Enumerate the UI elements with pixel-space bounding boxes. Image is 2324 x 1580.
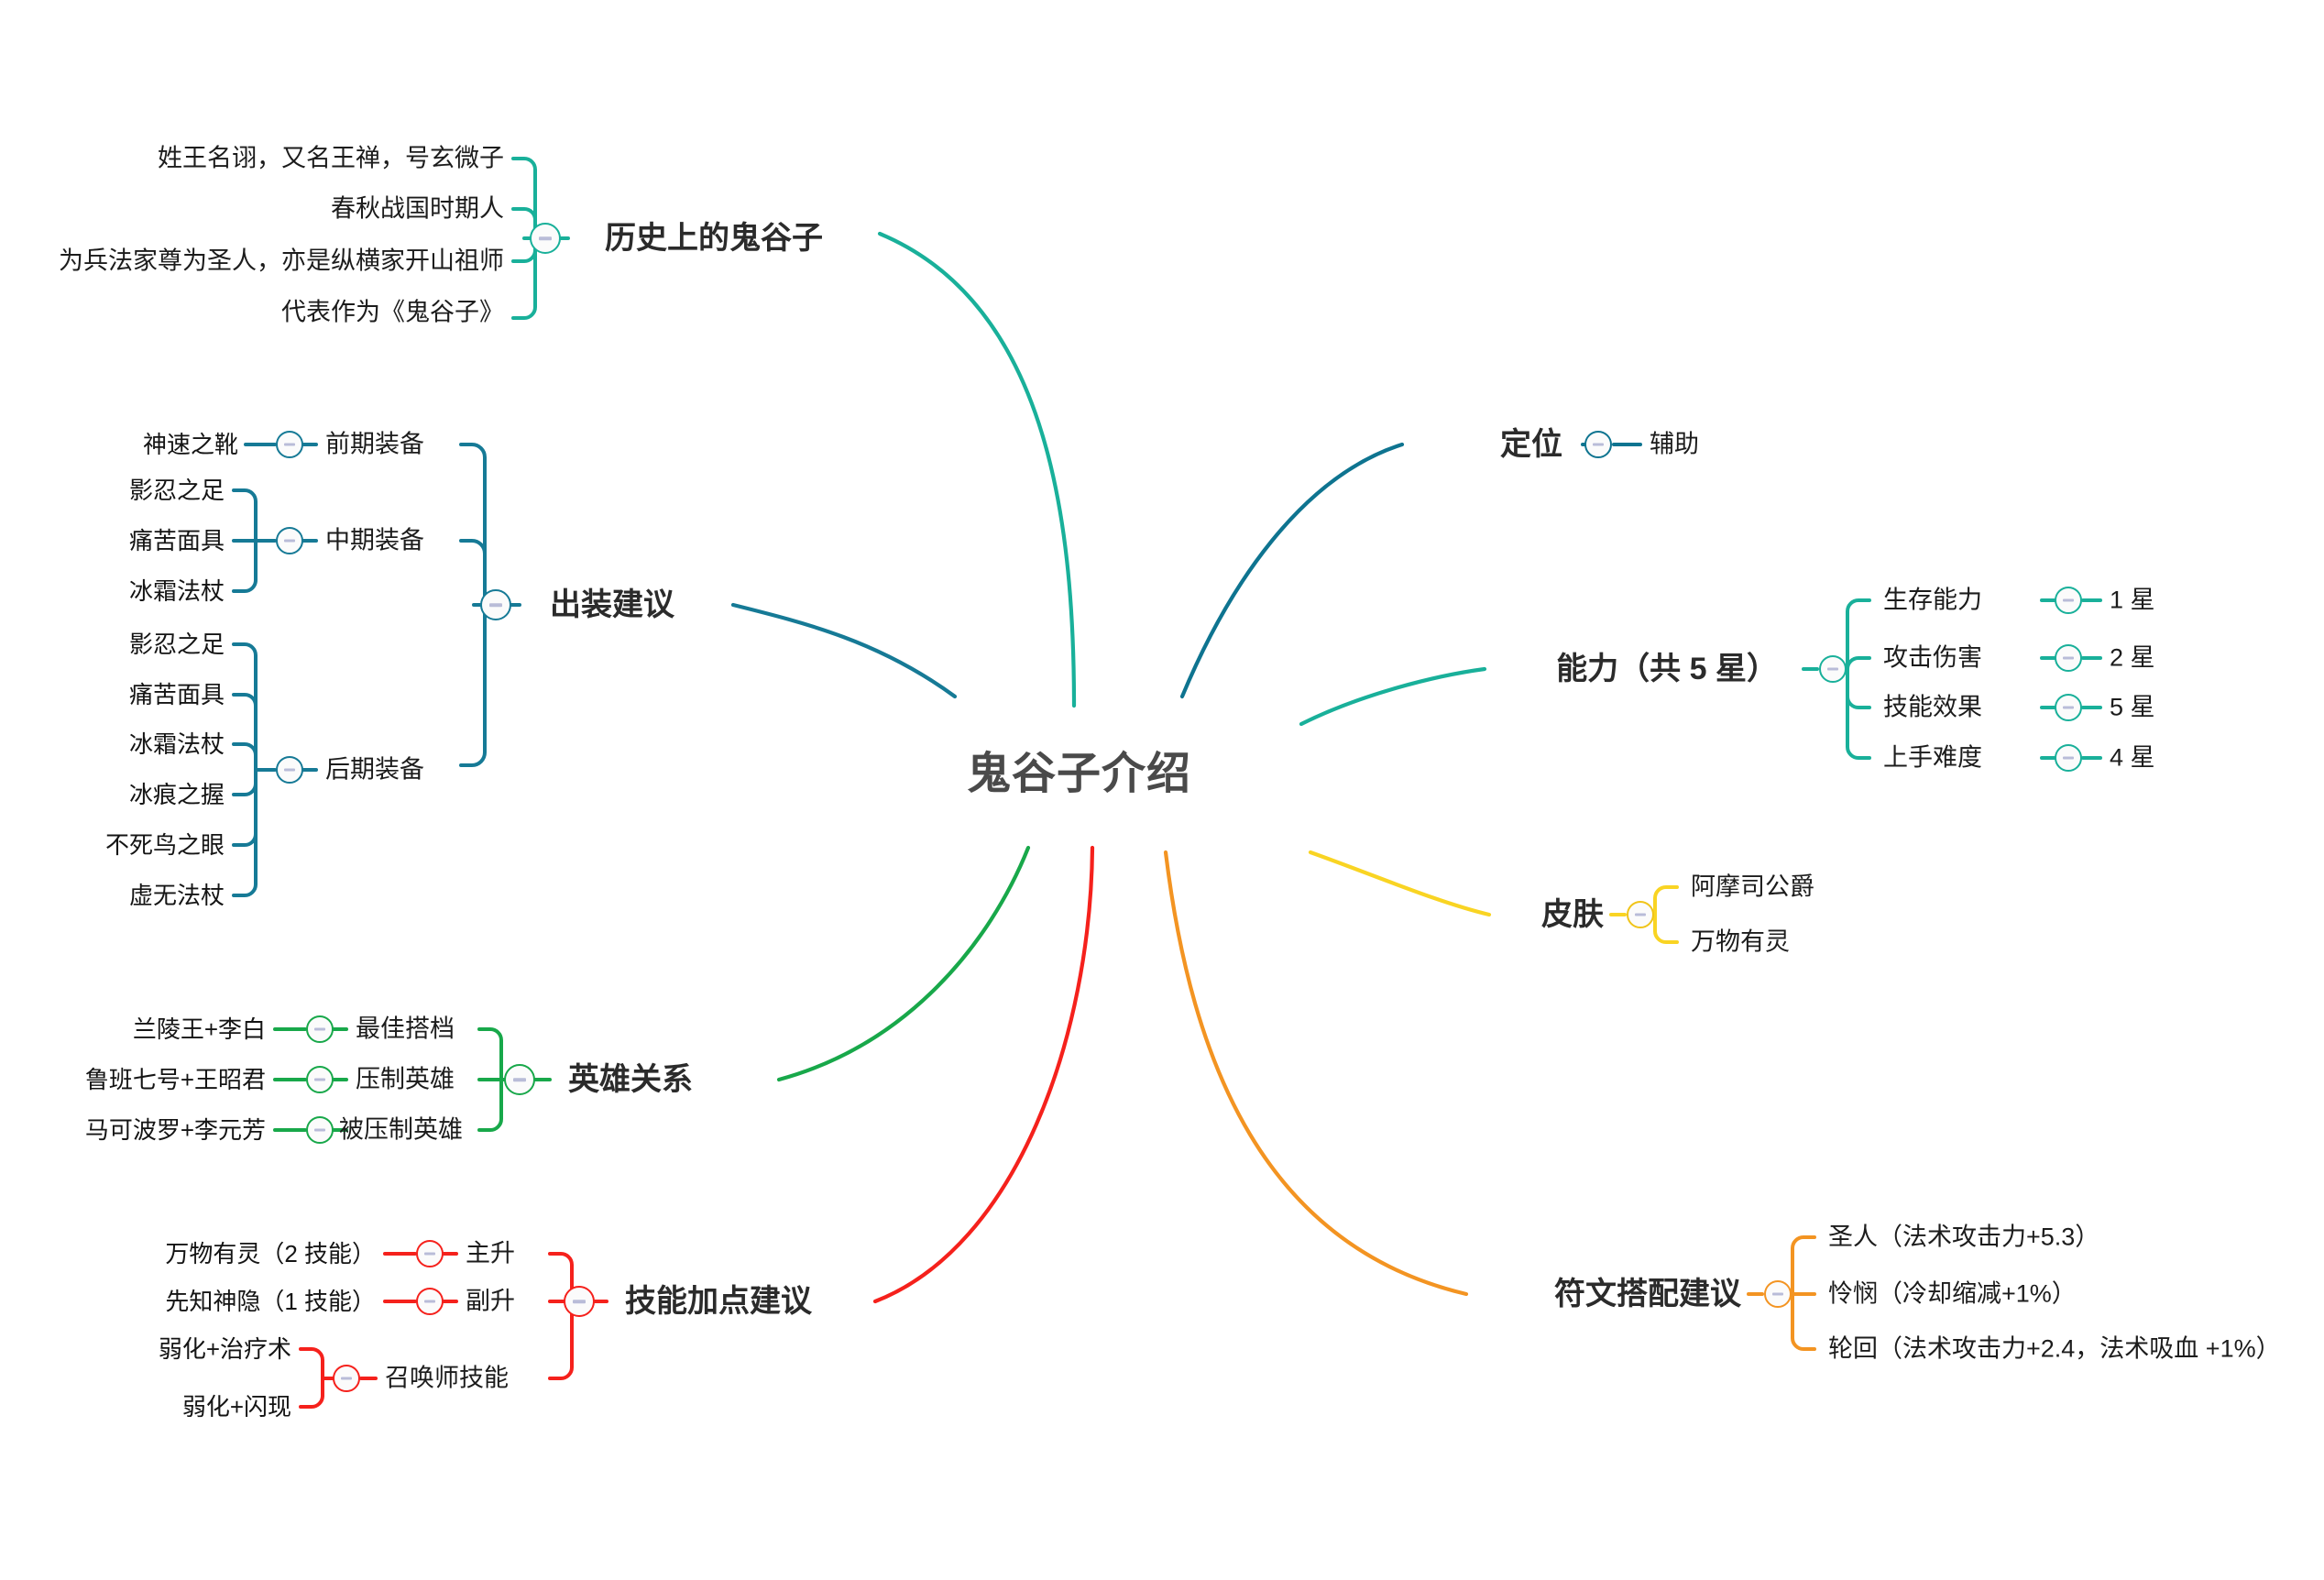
collapse-toggle-hero-relations[interactable] [504,1064,535,1095]
history-item-1[interactable]: 春秋战国时期人 [55,197,504,222]
equipment-late-item-0[interactable]: 影忍之足 [41,632,225,656]
equipment-early-item-0[interactable]: 神速之靴 [55,433,238,456]
skill-sub-item-0[interactable]: 先知神隐（1 技能） [92,1289,376,1313]
branch-label-position[interactable]: 定位 [1333,429,1562,460]
collapse-toggle-ability[interactable] [1819,655,1847,683]
branch-label-history[interactable]: 历史上的鬼谷子 [605,223,823,254]
collapse-toggle-ability-3[interactable] [2055,744,2082,772]
ability-name-1[interactable]: 攻击伤害 [1883,646,1982,671]
branch-label-skins[interactable]: 皮肤 [1375,899,1604,930]
rune-item-0[interactable]: 圣人（法术攻击力+5.3） [1828,1225,2099,1250]
skin-item-1[interactable]: 万物有灵 [1691,930,1790,955]
branch-label-skill-points[interactable]: 技能加点建议 [625,1286,812,1317]
hero-relation-best-partner[interactable]: 最佳搭档 [356,1017,455,1042]
root-node[interactable]: 鬼谷子介绍 [967,752,1191,796]
collapse-toggle-equipment-late[interactable] [276,756,303,784]
collapse-toggle-skill-points[interactable] [564,1286,595,1317]
history-item-3[interactable]: 代表作为《鬼谷子》 [55,301,504,325]
ability-name-0[interactable]: 生存能力 [1883,588,1982,613]
collapse-toggle-ability-1[interactable] [2055,644,2082,672]
skill-sub-level[interactable]: 副升 [466,1289,515,1314]
equipment-mid-item-1[interactable]: 痛苦面具 [41,529,225,553]
ability-name-2[interactable]: 技能效果 [1883,696,1982,720]
skill-summoner-item-0[interactable]: 弱化+治疗术 [73,1337,291,1361]
branch-label-ability[interactable]: 能力（共 5 星） [1457,653,1778,685]
rune-item-1[interactable]: 怜悯（冷却缩减+1%） [1828,1282,2077,1307]
collapse-toggle-runes[interactable] [1764,1280,1792,1308]
skill-summoner-item-1[interactable]: 弱化+闪现 [73,1395,291,1419]
hero-countered-by-item-0[interactable]: 马可波罗+李元芳 [9,1118,266,1142]
collapse-toggle-counters[interactable] [306,1066,334,1093]
collapse-toggle-ability-0[interactable] [2055,587,2082,614]
equipment-late-item-1[interactable]: 痛苦面具 [41,683,225,707]
collapse-toggle-skill-main[interactable] [416,1240,444,1267]
equipment-stage-late[interactable]: 后期装备 [325,758,424,783]
equipment-stage-mid[interactable]: 中期装备 [325,529,424,554]
ability-value-2[interactable]: 5 星 [2110,696,2155,720]
skill-main-level[interactable]: 主升 [466,1242,515,1267]
equipment-stage-early[interactable]: 前期装备 [325,433,424,457]
collapse-toggle-ability-2[interactable] [2055,694,2082,721]
equipment-mid-item-0[interactable]: 影忍之足 [41,478,225,502]
collapse-toggle-equipment-early[interactable] [276,431,303,458]
collapse-toggle-equipment-mid[interactable] [276,527,303,554]
hero-best-partner-item-0[interactable]: 兰陵王+李白 [37,1017,266,1041]
collapse-toggle-skins[interactable] [1627,901,1654,928]
hero-relation-countered-by[interactable]: 被压制英雄 [339,1118,463,1143]
collapse-toggle-best-partner[interactable] [306,1015,334,1043]
branch-label-runes[interactable]: 符文搭配建议 [1402,1278,1741,1310]
equipment-late-item-3[interactable]: 冰痕之握 [41,783,225,806]
ability-value-0[interactable]: 1 星 [2110,588,2155,613]
skin-item-0[interactable]: 阿摩司公爵 [1691,875,1814,900]
branch-label-equipment[interactable]: 出装建议 [550,589,674,620]
skill-summoner[interactable]: 召唤师技能 [385,1366,509,1391]
rune-item-2[interactable]: 轮回（法术攻击力+2.4，法术吸血 +1%） [1828,1337,2281,1362]
collapse-toggle-equipment[interactable] [480,589,511,620]
equipment-late-item-5[interactable]: 虚无法杖 [41,883,225,907]
collapse-toggle-skill-summoner[interactable] [333,1365,360,1392]
collapse-toggle-position[interactable] [1584,431,1612,458]
equipment-late-item-4[interactable]: 不死鸟之眼 [41,833,225,857]
ability-value-1[interactable]: 2 星 [2110,646,2155,671]
skill-main-item-0[interactable]: 万物有灵（2 技能） [92,1242,376,1266]
branch-label-hero-relations[interactable]: 英雄关系 [568,1064,693,1095]
ability-value-3[interactable]: 4 星 [2110,746,2155,771]
collapse-toggle-history[interactable] [530,223,561,254]
hero-counters-item-0[interactable]: 鲁班七号+王昭君 [18,1068,266,1092]
equipment-late-item-2[interactable]: 冰霜法杖 [41,732,225,756]
collapse-toggle-countered-by[interactable] [306,1116,334,1144]
history-item-0[interactable]: 姓王名诩，又名王禅，号玄微子 [55,147,504,171]
equipment-mid-item-2[interactable]: 冰霜法杖 [41,579,225,603]
mindmap-canvas: 鬼谷子介绍 历史上的鬼谷子 出装建议 英雄关系 技能加点建议 定位 能力（共 5… [0,0,2324,1580]
position-value[interactable]: 辅助 [1650,433,1699,457]
ability-name-3[interactable]: 上手难度 [1883,746,1982,771]
hero-relation-counters[interactable]: 压制英雄 [356,1068,455,1092]
history-item-2[interactable]: 为兵法家尊为圣人，亦是纵横家开山祖师 [0,249,504,274]
collapse-toggle-skill-sub[interactable] [416,1288,444,1315]
